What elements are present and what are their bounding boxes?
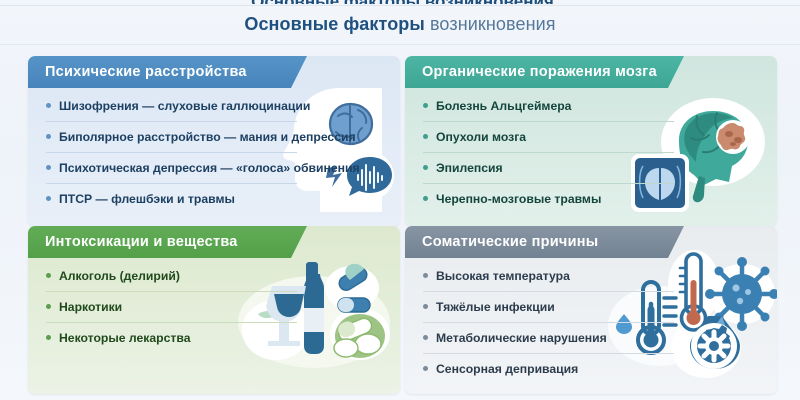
list-item[interactable]: Черепно-мозговые травмы [417, 183, 765, 214]
bullet-icon [423, 366, 428, 371]
list-item[interactable]: ПТСР — флешбэки и травмы [40, 183, 388, 214]
list-item-label: Некоторые лекарства [59, 331, 190, 345]
card-organic-brain-lesions[interactable]: Органические поражения мозга Болезнь Аль… [405, 56, 777, 226]
page-title-light: возникновения [430, 14, 556, 34]
list-item[interactable]: Психотическая депрессия — «голоса» обвин… [40, 152, 388, 183]
list-item-label: Биполярное расстройство — мания и депрес… [59, 130, 356, 144]
list-item[interactable]: Тяжёлые инфекции [417, 291, 765, 322]
card-title-mental-disorders: Психические расстройства [28, 56, 307, 88]
list-item[interactable]: Высокая температура [417, 260, 765, 291]
list-item[interactable]: Шизофрения — слуховые галлюцинации [40, 90, 388, 121]
bullet-icon [423, 196, 428, 201]
card-intoxications-substances[interactable]: Интоксикации и вещества Алкоголь (делири… [28, 226, 400, 394]
card-mental-disorders[interactable]: Психические расстройства Шизофрения — сл… [28, 56, 400, 226]
bullet-icon [46, 196, 51, 201]
cut-off-heading-sliver: Основные факторы возникновения [210, 0, 595, 4]
list-item[interactable]: Некоторые лекарства [40, 322, 388, 353]
list-item[interactable]: Алкоголь (делирий) [40, 260, 388, 291]
top-divider [0, 5, 800, 6]
list-item-label: ПТСР — флешбэки и травмы [59, 192, 235, 206]
list-item-label: Психотическая депрессия — «голоса» обвин… [59, 161, 360, 175]
list-item[interactable]: Биполярное расстройство — мания и депрес… [40, 121, 388, 152]
list-item-label: Метаболические нарушения [436, 331, 607, 345]
list-item[interactable]: Эпилепсия [417, 152, 765, 183]
page-title: Основные факторы возникновения [0, 14, 800, 35]
page-title-strong: Основные факторы [244, 14, 425, 34]
list-item-label: Высокая температура [436, 269, 570, 283]
bullet-icon [46, 165, 51, 170]
bullet-icon [423, 165, 428, 170]
card-title-organic-brain-lesions: Органические поражения мозга [405, 56, 684, 88]
card-title-intoxications-substances: Интоксикации и вещества [28, 226, 307, 258]
list-item-label: Черепно-мозговые травмы [436, 192, 601, 206]
list-item[interactable]: Наркотики [40, 291, 388, 322]
list-item-label: Болезнь Альцгеймера [436, 99, 571, 113]
card-list-organic-brain-lesions: Болезнь Альцгеймера Опухоли мозга Эпилеп… [417, 90, 765, 214]
card-list-intoxications-substances: Алкоголь (делирий) Наркотики Некоторые л… [40, 260, 388, 353]
list-item-label: Опухоли мозга [436, 130, 526, 144]
bullet-icon [46, 103, 51, 108]
list-item-label: Эпилепсия [436, 161, 503, 175]
card-list-somatic-causes: Высокая температура Тяжёлые инфекции Мет… [417, 260, 765, 384]
bullet-icon [46, 134, 51, 139]
bullet-icon [46, 304, 51, 309]
bullet-icon [423, 103, 428, 108]
list-item[interactable]: Метаболические нарушения [417, 322, 765, 353]
factor-cards-grid: Психические расстройства Шизофрения — сл… [28, 56, 772, 394]
bullet-icon [423, 335, 428, 340]
list-item[interactable]: Болезнь Альцгеймера [417, 90, 765, 121]
bullet-icon [423, 273, 428, 278]
list-item-label: Алкоголь (делирий) [59, 269, 180, 283]
card-list-mental-disorders: Шизофрения — слуховые галлюцинации Бипол… [40, 90, 388, 214]
bullet-icon [423, 304, 428, 309]
list-item-label: Тяжёлые инфекции [436, 300, 555, 314]
list-item-label: Сенсорная депривация [436, 362, 578, 376]
bullet-icon [423, 134, 428, 139]
list-item-label: Наркотики [59, 300, 122, 314]
card-somatic-causes[interactable]: Соматические причины Высокая температура… [405, 226, 777, 394]
list-item[interactable]: Сенсорная депривация [417, 353, 765, 384]
list-item[interactable]: Опухоли мозга [417, 121, 765, 152]
card-title-somatic-causes: Соматические причины [405, 226, 684, 258]
list-item-label: Шизофрения — слуховые галлюцинации [59, 99, 310, 113]
title-divider [0, 44, 800, 45]
bullet-icon [46, 335, 51, 340]
bullet-icon [46, 273, 51, 278]
